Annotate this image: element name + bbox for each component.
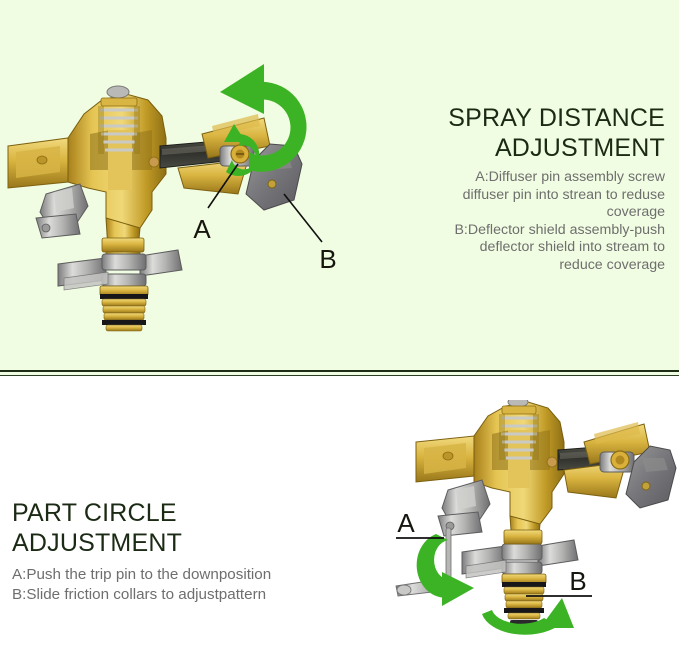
body-spray-distance: A:Diffuser pin assembly screw diffuser p…	[390, 169, 665, 274]
callout-letter-a: A	[397, 508, 415, 538]
text-block-part-circle: PART CIRCLE ADJUSTMENT A:Push the trip p…	[12, 498, 402, 605]
callout-b-top: B	[284, 194, 337, 274]
headline-spray-distance: SPRAY DISTANCE ADJUSTMENT	[390, 103, 665, 163]
trip-lever-assembly	[36, 184, 88, 238]
brass-side-wing	[8, 138, 68, 188]
friction-collar	[462, 540, 578, 578]
diffuser-pin-screw	[600, 451, 634, 472]
diffuser-pin-screw	[220, 145, 254, 166]
callout-letter-b: B	[319, 244, 336, 274]
friction-collar	[58, 250, 182, 290]
text-block-spray-distance: SPRAY DISTANCE ADJUSTMENT A:Diffuser pin…	[390, 103, 665, 274]
trip-lever-assembly	[438, 480, 490, 536]
instruction-sheet: A B SPRAY DISTANCE ADJUSTMENT A:Diffuser…	[0, 0, 679, 649]
callout-a-bottom: A	[396, 508, 444, 538]
body-part-circle: A:Push the trip pin to the downposition …	[12, 565, 402, 605]
callout-letter-b: B	[569, 566, 586, 596]
headline-part-circle: PART CIRCLE ADJUSTMENT	[12, 498, 402, 558]
sprinkler-illustration-top: A B	[2, 42, 362, 332]
callout-letter-a: A	[193, 214, 211, 244]
brass-body	[474, 402, 564, 528]
sprinkler-illustration-bottom: A B	[378, 400, 678, 649]
brass-side-wing	[416, 436, 474, 482]
